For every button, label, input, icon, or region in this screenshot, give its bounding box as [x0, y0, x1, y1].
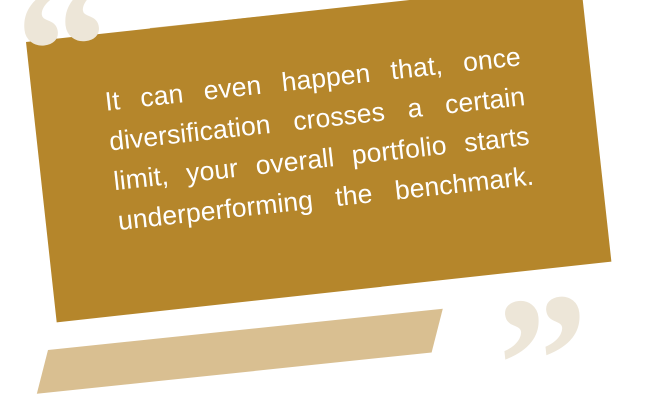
open-quote-icon: “	[8, 0, 115, 147]
quote-card: It can even happen that, once diversific…	[0, 0, 651, 419]
accent-slab-bottom	[37, 309, 443, 394]
quote-text: It can even happen that, once diversific…	[103, 36, 540, 280]
close-quote-icon: ”	[489, 263, 596, 419]
